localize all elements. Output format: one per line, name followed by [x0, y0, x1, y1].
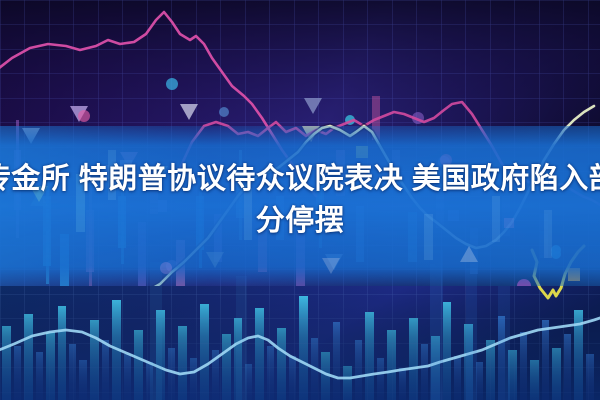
news-banner: 传金所 特朗普协议待众议院表决 美国政府陷入部 分停摆: [0, 0, 600, 400]
headline-band: [0, 126, 600, 286]
background-chart-graphic: [0, 0, 600, 400]
